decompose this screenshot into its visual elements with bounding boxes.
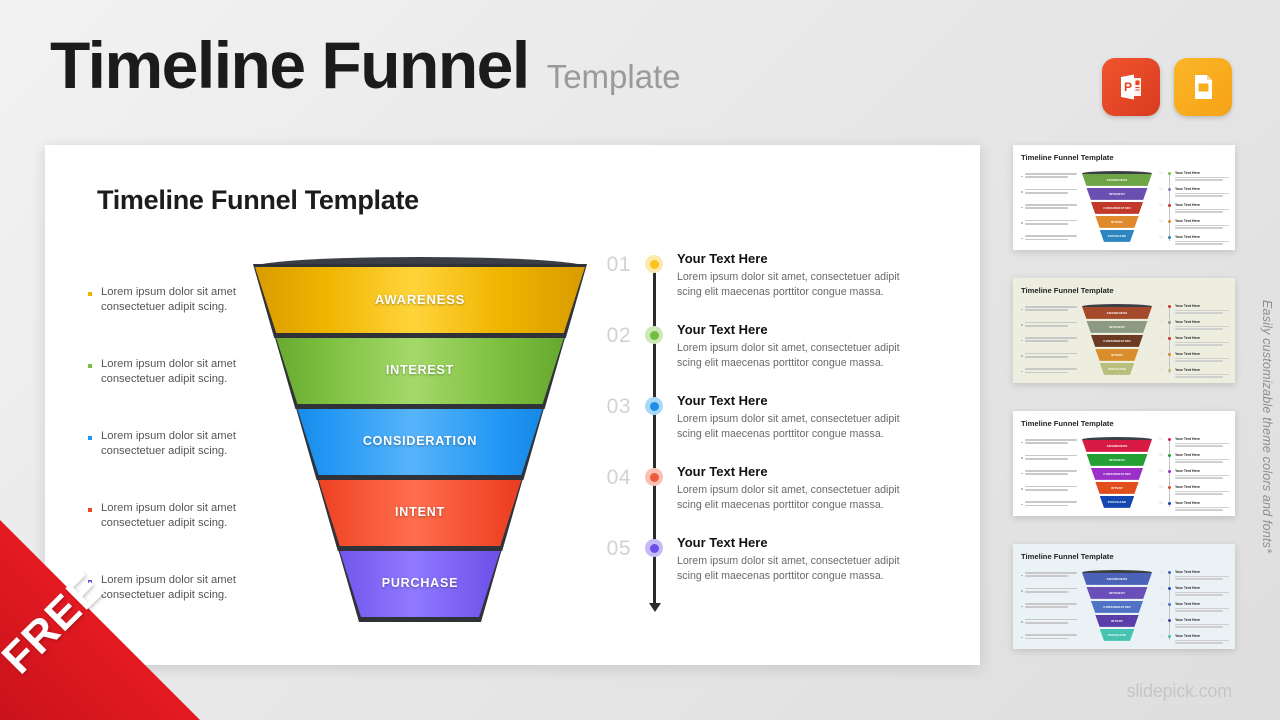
list-item — [1021, 603, 1077, 610]
bullet-text — [1025, 439, 1077, 446]
thumbnail-timeline-heading: Your Text Here — [1175, 602, 1229, 606]
timeline-step-number: 01 — [595, 253, 631, 277]
thumbnail-timeline-step-number: 02 — [1159, 586, 1163, 590]
thumbnail-funnel-segment-label: PURCHASE — [1081, 633, 1153, 637]
thumbnail-funnel-segment-label: PURCHASE — [1081, 234, 1153, 238]
bullet-marker-icon — [1021, 442, 1023, 444]
thumbnail-timeline-step-number: 03 — [1159, 336, 1163, 340]
bullet-marker-icon — [1021, 621, 1023, 623]
thumbnail-timeline-step-number: 03 — [1159, 602, 1163, 606]
list-item — [1021, 204, 1077, 211]
thumbnail-variant[interactable]: Timeline Funnel TemplateAWARENESSINTERES… — [1013, 544, 1235, 649]
thumbnail-timeline-step-number: 04 — [1159, 485, 1163, 489]
thumbnail-timeline-step-number: 05 — [1159, 368, 1163, 372]
thumbnail-funnel-segment-label: CONSIDERATION — [1081, 339, 1153, 343]
powerpoint-icon[interactable]: P — [1102, 58, 1160, 116]
thumbnail-timeline-item: 04Your Text Here — [1159, 618, 1229, 634]
thumbnail-timeline-heading: Your Text Here — [1175, 634, 1229, 638]
thumbnail-timeline-item: 02Your Text Here — [1159, 586, 1229, 602]
thumbnail-funnel-segment-label: INTEREST — [1081, 192, 1153, 196]
thumbnail-timeline-item: 03Your Text Here — [1159, 203, 1229, 219]
thumbnail-timeline-dot-icon — [1168, 220, 1171, 223]
thumbnail-timeline-step-number: 05 — [1159, 235, 1163, 239]
list-item — [1021, 173, 1077, 180]
thumbnail-timeline-item: 02Your Text Here — [1159, 187, 1229, 203]
timeline-item-body: Your Text HereLorem ipsum dolor sit amet… — [677, 535, 917, 584]
thumbnail-timeline-heading: Your Text Here — [1175, 203, 1229, 207]
thumbnail-timeline-step-number: 01 — [1159, 570, 1163, 574]
timeline-dot-icon — [645, 397, 663, 415]
timeline-step-number: 02 — [595, 324, 631, 348]
thumbnail-variant[interactable]: Timeline Funnel TemplateAWARENESSINTERES… — [1013, 278, 1235, 383]
thumbnail-funnel: AWARENESSINTERESTCONSIDERATIONINTENTPURC… — [1081, 304, 1153, 378]
timeline-item-heading: Your Text Here — [677, 535, 917, 550]
svg-text:P: P — [1124, 80, 1132, 94]
thumbnail-timeline-heading: Your Text Here — [1175, 219, 1229, 223]
thumbnail-timeline-step-number: 02 — [1159, 187, 1163, 191]
bullet-marker-icon — [1021, 590, 1023, 592]
list-item — [1021, 235, 1077, 242]
thumbnail-timeline-item: 03Your Text Here — [1159, 469, 1229, 485]
timeline-dot-core — [650, 544, 659, 553]
funnel-segment[interactable] — [250, 480, 590, 546]
thumbnail-variant[interactable]: Timeline Funnel TemplateAWARENESSINTERES… — [1013, 145, 1235, 250]
thumbnail-timeline-dot-icon — [1168, 470, 1171, 473]
thumbnail-timeline-step-number: 01 — [1159, 171, 1163, 175]
thumbnail-timeline-body: Your Text Here — [1175, 437, 1229, 448]
thumbnail-timeline-body: Your Text Here — [1175, 602, 1229, 613]
thumbnail-timeline: 01Your Text Here02Your Text Here03Your T… — [1159, 570, 1229, 649]
thumbnail-title: Timeline Funnel Template — [1021, 286, 1114, 295]
timeline-dot-core — [650, 331, 659, 340]
bullet-marker-icon — [88, 436, 92, 440]
bullet-marker-icon — [88, 364, 92, 368]
thumbnail-bullet-list — [1021, 306, 1077, 383]
thumbnail-timeline-body: Your Text Here — [1175, 320, 1229, 331]
thumbnail-timeline-step-number: 02 — [1159, 320, 1163, 324]
thumbnail-timeline: 01Your Text Here02Your Text Here03Your T… — [1159, 171, 1229, 250]
timeline-list: 01Your Text HereLorem ipsum dolor sit am… — [595, 253, 925, 608]
timeline-item-heading: Your Text Here — [677, 464, 917, 479]
thumbnail-timeline-body: Your Text Here — [1175, 618, 1229, 629]
thumbnail-timeline-dot-icon — [1168, 502, 1171, 505]
timeline-item-body: Your Text HereLorem ipsum dolor sit amet… — [677, 464, 917, 513]
list-item — [1021, 306, 1077, 313]
thumbnail-bullet-list — [1021, 173, 1077, 250]
thumbnail-timeline-body: Your Text Here — [1175, 570, 1229, 581]
list-item — [1021, 634, 1077, 641]
thumbnail-variant-list: Timeline Funnel TemplateAWARENESSINTERES… — [1013, 145, 1235, 677]
bullet-marker-icon — [88, 292, 92, 296]
page-title: Timeline Funnel — [50, 32, 529, 98]
thumbnail-timeline-step-number: 02 — [1159, 453, 1163, 457]
timeline-item-heading: Your Text Here — [677, 393, 917, 408]
main-slide-preview[interactable]: Timeline Funnel Template Lorem ipsum dol… — [45, 145, 980, 665]
thumbnail-timeline: 01Your Text Here02Your Text Here03Your T… — [1159, 437, 1229, 516]
thumbnail-funnel-segment-label: PURCHASE — [1081, 367, 1153, 371]
thumbnail-timeline-item: 01Your Text Here — [1159, 171, 1229, 187]
thumbnail-bullet-list — [1021, 439, 1077, 516]
timeline-dot-icon — [645, 255, 663, 273]
thumbnail-timeline-dot-icon — [1168, 619, 1171, 622]
timeline-dot-core — [650, 260, 659, 269]
thumbnail-timeline-heading: Your Text Here — [1175, 453, 1229, 457]
bullet-text — [1025, 634, 1077, 641]
list-item — [1021, 353, 1077, 360]
bullet-text — [1025, 204, 1077, 211]
funnel-segment[interactable] — [250, 551, 590, 617]
thumbnail-funnel-segment-label: AWARENESS — [1081, 444, 1153, 448]
bullet-marker-icon — [1021, 222, 1023, 224]
thumbnail-funnel-segment-label: INTENT — [1081, 486, 1153, 490]
bullet-text — [1025, 486, 1077, 493]
bullet-text — [1025, 470, 1077, 477]
thumbnail-timeline-body: Your Text Here — [1175, 352, 1229, 363]
thumbnail-timeline-dot-icon — [1168, 337, 1171, 340]
thumbnail-timeline-step-number: 04 — [1159, 618, 1163, 622]
bullet-text — [1025, 235, 1077, 242]
bullet-text — [1025, 588, 1077, 595]
thumbnail-timeline-body: Your Text Here — [1175, 586, 1229, 597]
bullet-text — [1025, 306, 1077, 313]
thumbnail-timeline-step-number: 05 — [1159, 501, 1163, 505]
thumbnail-timeline-body: Your Text Here — [1175, 453, 1229, 464]
thumbnail-timeline-dot-icon — [1168, 204, 1171, 207]
timeline-item-description: Lorem ipsum dolor sit amet, consectetuer… — [677, 341, 917, 371]
thumbnail-timeline-heading: Your Text Here — [1175, 570, 1229, 574]
thumbnail-timeline-body: Your Text Here — [1175, 203, 1229, 214]
thumbnail-timeline-heading: Your Text Here — [1175, 501, 1229, 505]
bullet-text — [1025, 189, 1077, 196]
list-item — [1021, 322, 1077, 329]
timeline-dot-core — [650, 473, 659, 482]
bullet-text — [1025, 619, 1077, 626]
timeline-item[interactable]: 03Your Text HereLorem ipsum dolor sit am… — [595, 395, 925, 466]
thumbnail-timeline-body: Your Text Here — [1175, 368, 1229, 379]
thumbnail-funnel-segment-label: CONSIDERATION — [1081, 605, 1153, 609]
list-item — [1021, 588, 1077, 595]
thumbnail-funnel-segment-label: CONSIDERATION — [1081, 206, 1153, 210]
bullet-marker-icon — [1021, 457, 1023, 459]
list-item — [1021, 470, 1077, 477]
slide-title: Timeline Funnel Template — [97, 185, 419, 216]
thumbnail-timeline-step-number: 05 — [1159, 634, 1163, 638]
funnel-segment[interactable] — [250, 338, 590, 404]
list-item — [1021, 501, 1077, 508]
bullet-marker-icon — [1021, 371, 1023, 373]
list-item — [1021, 486, 1077, 493]
timeline-dot-icon — [645, 326, 663, 344]
list-item — [1021, 455, 1077, 462]
thumbnail-funnel-segment-label: INTENT — [1081, 353, 1153, 357]
thumbnail-timeline-dot-icon — [1168, 236, 1171, 239]
thumbnail-funnel-segment-label: INTENT — [1081, 619, 1153, 623]
thumbnail-timeline-dot-icon — [1168, 635, 1171, 638]
thumbnail-timeline-item: 02Your Text Here — [1159, 453, 1229, 469]
thumbnail-timeline-body: Your Text Here — [1175, 469, 1229, 480]
bullet-marker-icon — [1021, 355, 1023, 357]
list-item — [1021, 220, 1077, 227]
list-item — [1021, 368, 1077, 375]
thumbnail-timeline-step-number: 04 — [1159, 219, 1163, 223]
thumbnail-timeline-dot-icon — [1168, 321, 1171, 324]
timeline-item-heading: Your Text Here — [677, 322, 917, 337]
timeline-item[interactable]: 05Your Text HereLorem ipsum dolor sit am… — [595, 537, 925, 608]
thumbnail-funnel-segment-label: AWARENESS — [1081, 178, 1153, 182]
app-icon-group: P — [1102, 58, 1232, 116]
thumbnail-timeline-dot-icon — [1168, 188, 1171, 191]
timeline-item-body: Your Text HereLorem ipsum dolor sit amet… — [677, 393, 917, 442]
google-slides-icon[interactable] — [1174, 58, 1232, 116]
thumbnail-timeline: 01Your Text Here02Your Text Here03Your T… — [1159, 304, 1229, 383]
funnel-diagram: AWARENESSINTERESTCONSIDERATIONINTENTPURC… — [250, 257, 590, 617]
bullet-text — [1025, 368, 1077, 375]
thumbnail-timeline-heading: Your Text Here — [1175, 368, 1229, 372]
timeline-item-heading: Your Text Here — [677, 251, 917, 266]
timeline-dot-icon — [645, 539, 663, 557]
thumbnail-timeline-body: Your Text Here — [1175, 235, 1229, 246]
thumbnail-timeline-item: 02Your Text Here — [1159, 320, 1229, 336]
thumbnail-timeline-dot-icon — [1168, 353, 1171, 356]
thumbnail-timeline-body: Your Text Here — [1175, 171, 1229, 182]
thumbnail-timeline-dot-icon — [1168, 486, 1171, 489]
thumbnail-timeline-body: Your Text Here — [1175, 336, 1229, 347]
bullet-marker-icon — [1021, 504, 1023, 506]
thumbnail-timeline-item: 01Your Text Here — [1159, 304, 1229, 320]
thumbnail-timeline-body: Your Text Here — [1175, 485, 1229, 496]
page-header: Timeline Funnel Template — [50, 32, 681, 98]
timeline-step-number: 04 — [595, 466, 631, 490]
thumbnail-timeline-heading: Your Text Here — [1175, 235, 1229, 239]
bullet-text — [1025, 353, 1077, 360]
funnel-segment[interactable] — [250, 409, 590, 475]
thumbnail-timeline-item: 04Your Text Here — [1159, 485, 1229, 501]
site-watermark: slidepick.com — [1127, 681, 1232, 702]
thumbnail-timeline-item: 05Your Text Here — [1159, 368, 1229, 383]
thumbnail-funnel: AWARENESSINTERESTCONSIDERATIONINTENTPURC… — [1081, 437, 1153, 511]
thumbnail-timeline-dot-icon — [1168, 571, 1171, 574]
bullet-marker-icon — [1021, 309, 1023, 311]
thumbnail-timeline-step-number: 04 — [1159, 352, 1163, 356]
thumbnail-timeline-step-number: 01 — [1159, 304, 1163, 308]
funnel-segment[interactable] — [250, 267, 590, 333]
list-item — [1021, 337, 1077, 344]
thumbnail-timeline-body: Your Text Here — [1175, 634, 1229, 645]
thumbnail-title: Timeline Funnel Template — [1021, 419, 1114, 428]
bullet-text — [1025, 455, 1077, 462]
bullet-marker-icon — [1021, 340, 1023, 342]
thumbnail-timeline-dot-icon — [1168, 454, 1171, 457]
thumbnail-timeline-body: Your Text Here — [1175, 219, 1229, 230]
thumbnail-timeline-item: 01Your Text Here — [1159, 437, 1229, 453]
thumbnail-timeline-item: 03Your Text Here — [1159, 336, 1229, 352]
thumbnail-funnel-segment-label: AWARENESS — [1081, 311, 1153, 315]
thumbnail-funnel-segment-label: PURCHASE — [1081, 500, 1153, 504]
thumbnail-timeline-dot-icon — [1168, 369, 1171, 372]
timeline-item-description: Lorem ipsum dolor sit amet, consectetuer… — [677, 412, 917, 442]
bullet-marker-icon — [1021, 324, 1023, 326]
timeline-dot-icon — [645, 468, 663, 486]
thumbnail-timeline-heading: Your Text Here — [1175, 320, 1229, 324]
bullet-text — [1025, 322, 1077, 329]
bullet-text — [1025, 337, 1077, 344]
timeline-dot-core — [650, 402, 659, 411]
thumbnail-timeline-heading: Your Text Here — [1175, 469, 1229, 473]
bullet-text — [1025, 173, 1077, 180]
thumbnail-bullet-list — [1021, 572, 1077, 649]
thumbnail-funnel: AWARENESSINTERESTCONSIDERATIONINTENTPURC… — [1081, 570, 1153, 644]
thumbnail-timeline-item: 05Your Text Here — [1159, 501, 1229, 516]
timeline-item-body: Your Text HereLorem ipsum dolor sit amet… — [677, 251, 917, 300]
thumbnail-funnel-segment-label: INTEREST — [1081, 325, 1153, 329]
thumbnail-timeline-step-number: 03 — [1159, 469, 1163, 473]
thumbnail-timeline-heading: Your Text Here — [1175, 352, 1229, 356]
thumbnail-timeline-step-number: 03 — [1159, 203, 1163, 207]
thumbnail-timeline-item: 05Your Text Here — [1159, 634, 1229, 649]
thumbnail-timeline-heading: Your Text Here — [1175, 336, 1229, 340]
bullet-text — [1025, 501, 1077, 508]
thumbnail-title: Timeline Funnel Template — [1021, 552, 1114, 561]
thumbnail-timeline-item: 04Your Text Here — [1159, 219, 1229, 235]
bullet-marker-icon — [88, 508, 92, 512]
thumbnail-timeline-heading: Your Text Here — [1175, 586, 1229, 590]
bullet-marker-icon — [1021, 575, 1023, 577]
thumbnail-timeline-item: 05Your Text Here — [1159, 235, 1229, 250]
thumbnail-timeline-item: 04Your Text Here — [1159, 352, 1229, 368]
bullet-marker-icon — [1021, 207, 1023, 209]
thumbnail-timeline-item: 03Your Text Here — [1159, 602, 1229, 618]
thumbnail-title: Timeline Funnel Template — [1021, 153, 1114, 162]
list-item — [1021, 619, 1077, 626]
thumbnail-variant[interactable]: Timeline Funnel TemplateAWARENESSINTERES… — [1013, 411, 1235, 516]
timeline-item-description: Lorem ipsum dolor sit amet, consectetuer… — [677, 554, 917, 584]
thumbnail-funnel-segment-label: INTEREST — [1081, 458, 1153, 462]
list-item — [1021, 572, 1077, 579]
thumbnail-timeline-item: 01Your Text Here — [1159, 570, 1229, 586]
list-item — [1021, 189, 1077, 196]
bullet-text — [1025, 572, 1077, 579]
timeline-item-description: Lorem ipsum dolor sit amet, consectetuer… — [677, 270, 917, 300]
list-item — [1021, 439, 1077, 446]
bullet-marker-icon — [1021, 606, 1023, 608]
thumbnail-timeline-heading: Your Text Here — [1175, 618, 1229, 622]
thumbnail-timeline-dot-icon — [1168, 172, 1171, 175]
thumbnail-timeline-step-number: 01 — [1159, 437, 1163, 441]
thumbnail-timeline-heading: Your Text Here — [1175, 485, 1229, 489]
timeline-item-description: Lorem ipsum dolor sit amet, consectetuer… — [677, 483, 917, 513]
thumbnail-funnel-segment-label: INTEREST — [1081, 591, 1153, 595]
bullet-marker-icon — [1021, 488, 1023, 490]
thumbnail-timeline-heading: Your Text Here — [1175, 304, 1229, 308]
bullet-text — [1025, 220, 1077, 227]
thumbnail-timeline-dot-icon — [1168, 305, 1171, 308]
bullet-text — [1025, 603, 1077, 610]
thumbnail-timeline-heading: Your Text Here — [1175, 437, 1229, 441]
timeline-item[interactable]: 04Your Text HereLorem ipsum dolor sit am… — [595, 466, 925, 537]
bullet-marker-icon — [1021, 238, 1023, 240]
thumbnail-timeline-body: Your Text Here — [1175, 187, 1229, 198]
timeline-item-body: Your Text HereLorem ipsum dolor sit amet… — [677, 322, 917, 371]
bullet-marker-icon — [1021, 637, 1023, 639]
thumbnail-timeline-dot-icon — [1168, 603, 1171, 606]
bullet-marker-icon — [1021, 473, 1023, 475]
thumbnail-timeline-body: Your Text Here — [1175, 501, 1229, 512]
thumbnail-timeline-dot-icon — [1168, 587, 1171, 590]
thumbnail-funnel: AWARENESSINTERESTCONSIDERATIONINTENTPURC… — [1081, 171, 1153, 245]
timeline-item[interactable]: 02Your Text HereLorem ipsum dolor sit am… — [595, 324, 925, 395]
thumbnail-funnel-segment-label: CONSIDERATION — [1081, 472, 1153, 476]
timeline-item[interactable]: 01Your Text HereLorem ipsum dolor sit am… — [595, 253, 925, 324]
bullet-marker-icon — [1021, 191, 1023, 193]
thumbnail-funnel-segment-label: AWARENESS — [1081, 577, 1153, 581]
thumbnail-timeline-heading: Your Text Here — [1175, 171, 1229, 175]
thumbnail-timeline-heading: Your Text Here — [1175, 187, 1229, 191]
bullet-marker-icon — [1021, 176, 1023, 178]
customizable-theme-caption: Easily customizable theme colors and fon… — [1260, 300, 1274, 553]
thumbnail-funnel-segment-label: INTENT — [1081, 220, 1153, 224]
timeline-step-number: 05 — [595, 537, 631, 561]
timeline-step-number: 03 — [595, 395, 631, 419]
thumbnail-timeline-dot-icon — [1168, 438, 1171, 441]
thumbnail-timeline-body: Your Text Here — [1175, 304, 1229, 315]
page-subtitle: Template — [547, 58, 681, 96]
